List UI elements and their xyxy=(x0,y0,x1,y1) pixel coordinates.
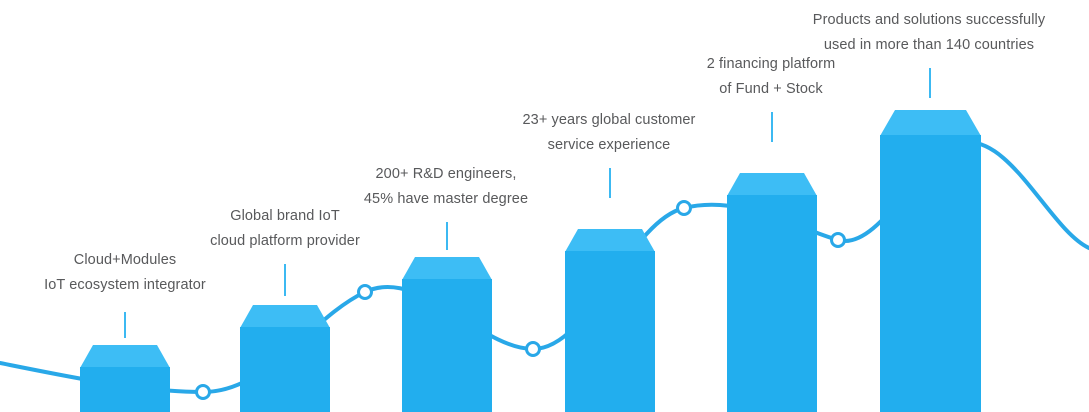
caption-bar-1: Cloud+Modules IoT ecosystem integrator xyxy=(25,248,225,298)
caption-bar-6: Products and solutions successfully used… xyxy=(810,8,1048,58)
caption-bar-1-line2: IoT ecosystem integrator xyxy=(25,273,225,298)
caption-bar-2-line2: cloud platform provider xyxy=(185,229,385,254)
caption-bar-4-line2: service experience xyxy=(490,133,728,158)
caption-bar-4-line1: 23+ years global customer xyxy=(490,108,728,133)
caption-bar-5-line2: of Fund + Stock xyxy=(672,77,870,102)
caption-bar-6-line1: Products and solutions successfully xyxy=(810,8,1048,33)
caption-bar-4: 23+ years global customer service experi… xyxy=(490,108,728,158)
caption-bar-5: 2 financing platform of Fund + Stock xyxy=(672,52,870,102)
infographic-chart: Cloud+Modules IoT ecosystem integrator G… xyxy=(0,0,1089,412)
caption-bar-3-line1: 200+ R&D engineers, xyxy=(340,162,552,187)
caption-group: Cloud+Modules IoT ecosystem integrator G… xyxy=(0,0,1089,412)
caption-bar-3-line2: 45% have master degree xyxy=(340,187,552,212)
caption-bar-6-line2: used in more than 140 countries xyxy=(810,33,1048,58)
caption-bar-3: 200+ R&D engineers, 45% have master degr… xyxy=(340,162,552,212)
